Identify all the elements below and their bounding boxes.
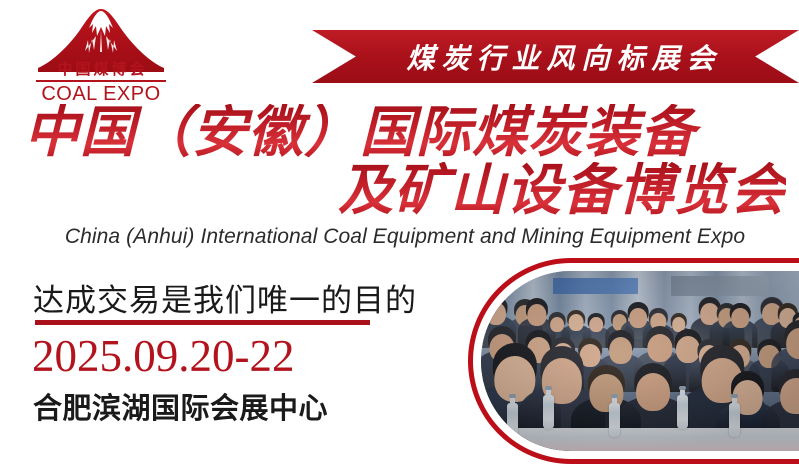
title-line-1: 中国（安徽）国际煤炭装备 — [24, 104, 786, 160]
venue-name: 合肥滨湖国际会展中心 — [33, 385, 328, 427]
title-line-2: 及矿山设备博览会 — [24, 162, 786, 218]
slogan-underline — [35, 320, 370, 325]
logo-chinese-name: 中国煤博会 — [30, 61, 172, 79]
english-subtitle: China (Anhui) International Coal Equipme… — [26, 225, 784, 249]
event-date: 2025.09.20-22 — [32, 331, 295, 381]
audience-photo-frame — [468, 258, 799, 464]
tagline-ribbon: 煤炭行业风向标展会 — [312, 30, 799, 83]
conference-audience-photo — [481, 271, 799, 451]
slogan-text: 达成交易是我们唯一的目的 — [33, 275, 417, 320]
expo-poster: 中国煤博会 COAL EXPO 煤炭行业风向标展会 中国（安徽）国际煤炭装备 及… — [0, 0, 799, 464]
coal-expo-logo: 中国煤博会 COAL EXPO — [30, 6, 172, 106]
main-title: 中国（安徽）国际煤炭装备 及矿山设备博览会 — [24, 104, 786, 218]
ribbon-label: 煤炭行业风向标展会 — [312, 30, 799, 83]
